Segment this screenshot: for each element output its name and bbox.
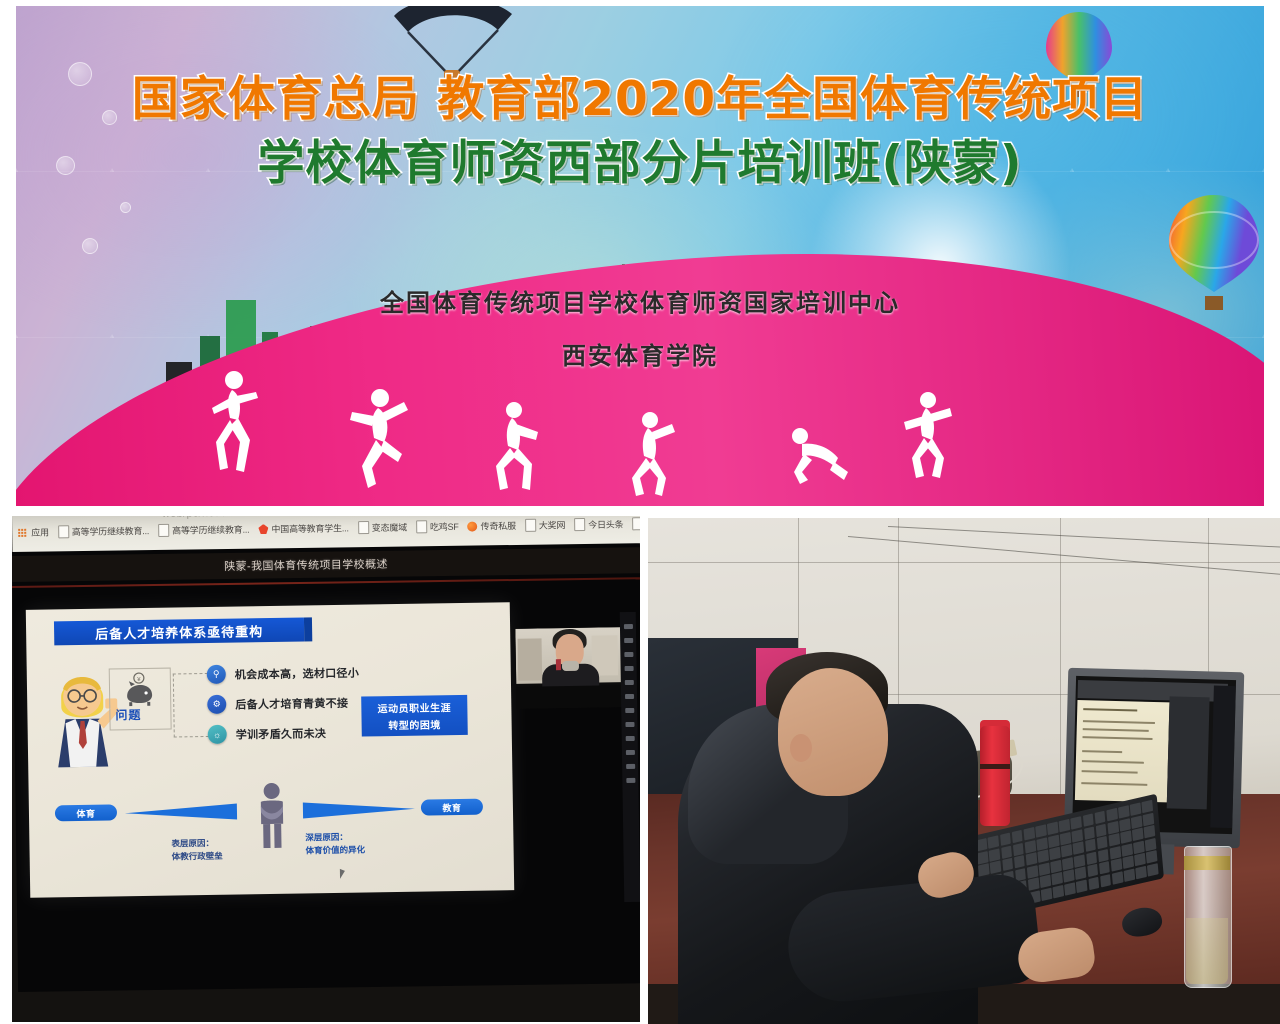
- sports-pill-label: 体育: [76, 806, 95, 819]
- connector-dashes: [173, 673, 209, 738]
- speaker-accent: [556, 659, 561, 670]
- bookmarks-bar: 应用 高等学历继续教育... 高等学历继续教育... 中国高等教育学生... 变…: [18, 517, 640, 539]
- organizer-name: 全国体育传统项目学校体育师资国家培训中心: [16, 278, 1264, 331]
- banner-title-block: 国家体育总局 教育部2020年全国体育传统项目 学校体育师资西部分片培训班(陕蒙…: [16, 68, 1264, 196]
- video-background-detail: [518, 638, 543, 680]
- bookmark-label: 今日头条: [588, 517, 623, 530]
- bookmark-label: 传奇私服: [481, 519, 516, 532]
- bookmark-label: 高等学历继续教育...: [72, 524, 149, 538]
- screen-video-panel: [1167, 696, 1210, 809]
- bookmark-item-overflow[interactable]: [632, 517, 640, 530]
- slide-title-text: 后备人才培养体系亟待重构: [95, 621, 263, 643]
- problem-label: 问题: [115, 706, 141, 723]
- deep-cause-text: 体育价值的异化: [305, 843, 365, 857]
- bookmark-item[interactable]: 吃鸡SF: [416, 520, 459, 534]
- callout-line-1: 运动员职业生涯: [377, 699, 451, 715]
- search-icon: ⚲: [207, 665, 226, 684]
- career-callout-box: 运动员职业生涯 转型的困境: [361, 695, 468, 737]
- orange-globe-icon: [468, 521, 478, 531]
- thermos-band: [980, 764, 1010, 769]
- page-icon: [158, 524, 169, 537]
- runner-silhouette-icon: [204, 368, 264, 478]
- surface-cause-text: 体教行政壁垒: [172, 850, 223, 864]
- person-head: [778, 668, 888, 796]
- photo-collage-page: 国家体育总局 教育部2020年全国体育传统项目 学校体育师资西部分片培训班(陕蒙…: [0, 0, 1280, 1024]
- mouse-cursor: [340, 869, 345, 879]
- bookmark-item[interactable]: 传奇私服: [468, 519, 516, 533]
- apps-grid-icon: [18, 528, 26, 536]
- page-icon: [632, 517, 640, 530]
- apps-shortcut[interactable]: 应用: [18, 525, 49, 538]
- bookmark-item[interactable]: 高等学历继续教育...: [58, 524, 149, 538]
- participant-person: [648, 604, 978, 1024]
- gear-icon: ⚙: [207, 695, 226, 714]
- slide-bullet: ⚙ 后备人才培育青黄不接: [207, 693, 348, 714]
- piggy-bank-icon: ¥: [123, 672, 156, 706]
- arrow-right-icon: [125, 802, 243, 822]
- surface-cause-label: 表层原因：: [171, 837, 222, 851]
- wall-tile-line: [648, 562, 1280, 563]
- education-pill: 教育: [421, 799, 483, 816]
- red-kite-icon: [258, 524, 268, 534]
- gymnast-silhouette-icon: [346, 384, 410, 492]
- bookmark-label: 吃鸡SF: [430, 520, 459, 533]
- event-banner: 国家体育总局 教育部2020年全国体育传统项目 学校体育师资西部分片培训班(陕蒙…: [16, 6, 1264, 506]
- red-thermos: [980, 726, 1010, 826]
- wall-tile-line: [1060, 518, 1061, 798]
- apps-label: 应用: [31, 525, 49, 538]
- person-ear: [790, 734, 812, 762]
- page-icon: [574, 518, 585, 531]
- screen-side-rail: [1210, 686, 1236, 829]
- screen-document-panel: [1075, 700, 1170, 802]
- deep-cause-label: 深层原因：: [305, 831, 365, 845]
- athlete-silhouette-icon: [624, 408, 678, 500]
- bullet-text: 学训矛盾久而未决: [236, 725, 327, 742]
- bottle-water: [1186, 918, 1228, 984]
- bullet-text: 后备人才培育青黄不接: [235, 694, 348, 712]
- sports-pill: 体育: [55, 804, 117, 821]
- surface-cause: 表层原因： 体教行政壁垒: [171, 837, 222, 863]
- video-letterbox: [516, 685, 622, 709]
- bookmark-item[interactable]: 今日头条: [574, 517, 623, 531]
- course-page-title: 陕蒙-我国体育传统项目学校概述: [224, 556, 388, 574]
- speaker-video-thumbnail[interactable]: [515, 627, 622, 709]
- athlete-silhouette-icon: [486, 398, 544, 494]
- bulb-icon: ☼: [208, 725, 227, 744]
- banner-title-line-2: 学校体育师资西部分片培训班(陕蒙): [16, 132, 1264, 196]
- bookmark-item[interactable]: 中国高等教育学生...: [258, 521, 348, 535]
- slide-bullet: ☼ 学训矛盾久而未决: [208, 723, 327, 744]
- bookmark-item[interactable]: 大奖网: [525, 518, 566, 532]
- speaker-scarf: [562, 661, 579, 671]
- person-figure-icon: [255, 782, 290, 849]
- bubble-decoration: [120, 202, 131, 213]
- slide-bullet: ⚲ 机会成本高，选材口径小: [207, 663, 360, 684]
- slide-title-banner: 后备人才培养体系亟待重构: [54, 617, 304, 645]
- bookmark-label: 中国高等教育学生...: [271, 521, 348, 535]
- presentation-slide: 后备人才培养体系亟待重构 ¥: [26, 602, 514, 898]
- bookmark-item[interactable]: 高等学历继续教育...: [158, 523, 249, 537]
- banner-organizer-block: 全国体育传统项目学校体育师资国家培训中心 西安体育学院: [16, 278, 1264, 384]
- banner-title-line-1: 国家体育总局 教育部2020年全国体育传统项目: [16, 68, 1264, 132]
- page-icon: [358, 521, 369, 534]
- athlete-silhouette-icon: [898, 388, 956, 484]
- bookmark-item[interactable]: 变态魔域: [358, 520, 407, 534]
- education-pill-label: 教育: [442, 801, 461, 814]
- bookmark-label: 高等学历继续教育...: [172, 523, 249, 537]
- bookmark-label: 大奖网: [539, 518, 566, 531]
- photo-monitor-screen: web/pc/new/main.html 应用 高等学历继续教育... 高等学历…: [12, 516, 640, 1022]
- page-icon: [525, 519, 536, 532]
- bookmark-label: 变态魔域: [372, 520, 407, 533]
- bullet-text: 机会成本高，选材口径小: [235, 664, 360, 682]
- organizer-institute: 西安体育学院: [16, 331, 1264, 384]
- page-icon: [416, 520, 427, 533]
- deep-cause: 深层原因： 体育价值的异化: [305, 831, 365, 857]
- page-icon: [58, 525, 69, 538]
- diver-silhouette-icon: [778, 414, 852, 490]
- photo-participant-at-desk: [648, 518, 1280, 1024]
- arrow-left-icon: [297, 800, 415, 820]
- callout-line-2: 转型的困境: [388, 716, 441, 732]
- bottle-metal-ring: [1184, 856, 1230, 870]
- address-bar-url[interactable]: web/pc/new/main.html: [162, 516, 277, 520]
